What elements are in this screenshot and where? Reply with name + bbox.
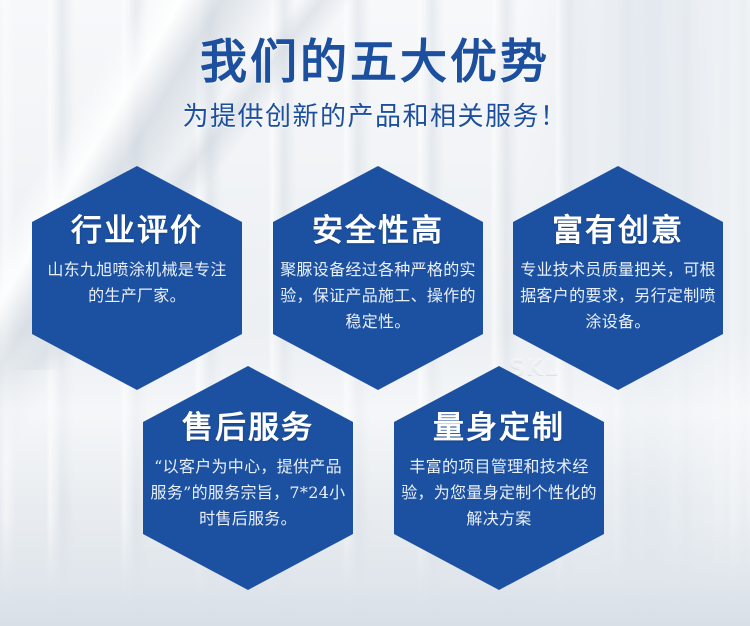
- advantage-desc-2: 聚脲设备经过各种严格的实验，保证产品施工、操作的稳定性。: [273, 248, 483, 335]
- advantage-desc-5: 丰富的项目管理和技术经验，为您量身定制个性化的解决方案: [394, 445, 604, 532]
- heading-block: 我们的五大优势 为提供创新的产品和相关服务！: [0, 36, 750, 133]
- page-subtitle: 为提供创新的产品和相关服务！: [0, 96, 750, 133]
- page-title: 我们的五大优势: [0, 36, 750, 90]
- advantage-desc-1: 山东九旭喷涂机械是专注的生产厂家。: [32, 248, 242, 309]
- advantage-desc-4: “以客户为中心，提供产品服务”的服务宗旨，7*24小时售后服务。: [143, 445, 353, 532]
- background-floor: [0, 516, 750, 626]
- promo-banner: SKL 我们的五大优势 为提供创新的产品和相关服务！ 行业评价 山东九旭喷涂机械…: [0, 0, 750, 626]
- advantage-desc-3: 专业技术员质量把关，可根据客户的要求，另行定制喷涂设备。: [513, 248, 723, 335]
